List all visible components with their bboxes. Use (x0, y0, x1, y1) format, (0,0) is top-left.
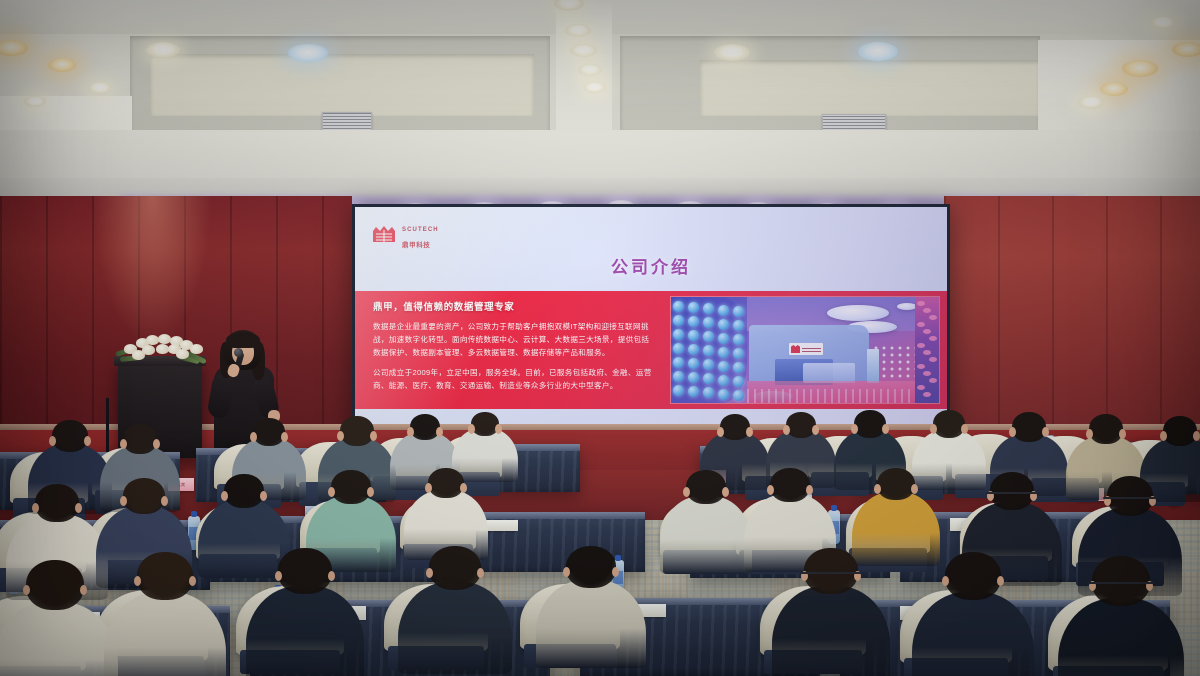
showroom-brand-sign (789, 343, 823, 355)
eyeglasses (1103, 497, 1157, 499)
eyeglasses (986, 492, 1038, 494)
audience-member (1058, 556, 1184, 676)
slide-logo: SCUTECH 鼎甲科技 (371, 219, 439, 251)
ceiling-downlight (146, 42, 180, 58)
ceiling-downlight (1150, 16, 1176, 29)
ceiling-downlight (1172, 42, 1200, 57)
audience-member (104, 552, 226, 676)
slide-content-band: 鼎甲，值得信赖的数据管理专家 数据是企业最重要的资产，公司致力于帮助客户拥抱双模… (355, 291, 947, 409)
ceiling-downlight (570, 44, 597, 57)
ceiling-downlight (565, 24, 591, 37)
audience-member (0, 560, 118, 676)
slide-showroom-photo (671, 297, 939, 403)
audience-member (772, 548, 890, 676)
ceiling-downlight (1078, 96, 1104, 109)
ceiling-downlight (1100, 82, 1128, 96)
slide-headline: 鼎甲，值得信赖的数据管理专家 (373, 299, 655, 313)
ceiling-downlight (24, 96, 46, 107)
eyeglasses (1088, 582, 1154, 584)
ceiling-downlight (858, 42, 898, 61)
scutech-crown-mark-icon (371, 225, 397, 245)
showroom-floor (747, 381, 939, 403)
audience-member (246, 548, 364, 676)
audience-member (912, 552, 1034, 676)
ceiling-downlight (714, 44, 750, 61)
audience-member (536, 546, 646, 668)
audience-member (660, 470, 752, 574)
ceiling-downlight (88, 82, 112, 94)
ceiling-downlight (583, 82, 606, 93)
showroom-kiosk (867, 349, 879, 383)
slide-paragraph: 公司成立于2009年，立足中国，服务全球。目前，已服务包括政府、金融、运营商、能… (373, 366, 655, 392)
floral-arrangement (116, 330, 208, 364)
showroom-icon-wall (671, 297, 747, 403)
ceiling-downlight (578, 64, 602, 76)
ceiling-downlight (288, 44, 328, 62)
showroom-light-dots (873, 345, 919, 379)
presentation-slide: SCUTECH 鼎甲科技 公司介绍 鼎甲，值得信赖的数据管理专家 数据是企业最重… (355, 207, 947, 435)
projection-screen: SCUTECH 鼎甲科技 公司介绍 鼎甲，值得信赖的数据管理专家 数据是企业最重… (352, 204, 950, 438)
eyeglasses (800, 572, 862, 574)
audience-member (398, 546, 512, 674)
ceiling-downlight (48, 58, 76, 72)
ceiling-downlight (1122, 60, 1158, 77)
slide-logo-chinese: 鼎甲科技 (402, 242, 430, 249)
slide-paragraph: 数据是企业最重要的资产，公司致力于帮助客户拥抱双模IT架构和迎接互联网挑战，加速… (373, 320, 655, 359)
slide-title: 公司介绍 (355, 253, 947, 278)
ceiling-downlight (0, 40, 28, 56)
slide-logo-english: SCUTECH (402, 227, 439, 233)
showroom-plant (915, 297, 939, 403)
conference-photo: SCUTECH 鼎甲科技 公司介绍 鼎甲，值得信赖的数据管理专家 数据是企业最重… (0, 0, 1200, 676)
slide-text-column: 鼎甲，值得信赖的数据管理专家 数据是企业最重要的资产，公司致力于帮助客户拥抱双模… (373, 299, 655, 399)
